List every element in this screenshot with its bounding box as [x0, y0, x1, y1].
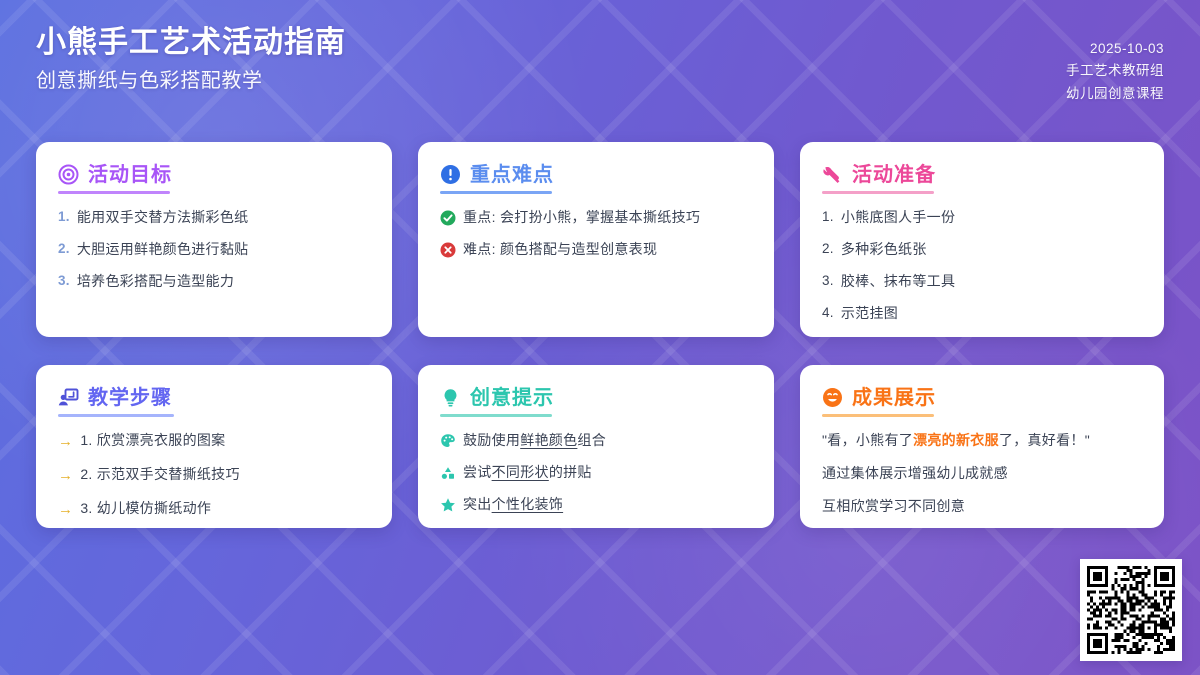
card-header-focus: 重点难点 [440, 164, 752, 185]
list-item: → 2. 示范双手交替撕纸技巧 [58, 465, 370, 486]
item-text-prefix: 尝试 [463, 464, 492, 480]
title-underline-tips [440, 414, 552, 417]
card-title-goal: 活动目标 [88, 165, 172, 185]
x-circle-icon [440, 240, 456, 259]
item-text-suffix: 组合 [577, 432, 606, 448]
card-preparation: 活动准备 1. 小熊底图人手一份 2. 多种彩色纸张 3. 胶棒、抹布等工具 4… [800, 142, 1164, 337]
item-text-prefix: 突出 [463, 496, 492, 512]
item-text: 尝试不同形状的拼贴 [463, 463, 752, 482]
card-teaching-steps: 教学步骤 → 1. 欣赏漂亮衣服的图案 → 2. 示范双手交替撕纸技巧 → 3.… [36, 365, 392, 528]
list-item: → 3. 幼儿模仿撕纸动作 [58, 499, 370, 520]
list-item: 互相欣赏学习不同创意 [822, 497, 1142, 516]
presentation-icon [58, 387, 79, 408]
target-icon [58, 164, 79, 185]
meta-course: 幼儿园创意课程 [1066, 83, 1164, 105]
title-underline-prep [822, 191, 934, 194]
card-results-showcase: 成果展示 "看，小熊有了漂亮的新衣服了，真好看！" 通过集体展示增强幼儿成就感 … [800, 365, 1164, 528]
card-title-focus: 重点难点 [470, 165, 554, 185]
list-item: 1. 小熊底图人手一份 [822, 208, 1142, 227]
item-text: 通过集体展示增强幼儿成就感 [822, 464, 1142, 483]
card-title-result: 成果展示 [852, 388, 936, 408]
list-item: "看，小熊有了漂亮的新衣服了，真好看！" [822, 431, 1142, 450]
tips-list: 鼓励使用鲜艳颜色组合 尝试不同形状的拼贴 [440, 431, 752, 514]
title-underline-focus [440, 191, 552, 194]
item-text: 胶棒、抹布等工具 [841, 272, 1142, 291]
card-header-result: 成果展示 [822, 387, 1142, 408]
list-item: 2. 大胆运用鲜艳颜色进行黏贴 [58, 240, 370, 259]
card-header-steps: 教学步骤 [58, 387, 370, 408]
item-text: 培养色彩搭配与造型能力 [77, 272, 370, 291]
item-text-suffix: 的拼贴 [549, 464, 592, 480]
item-number: 4. [822, 304, 834, 323]
item-text: 重点: 会打扮小熊，掌握基本撕纸技巧 [463, 208, 752, 227]
list-item: 4. 示范挂图 [822, 304, 1142, 323]
smiley-icon [822, 387, 843, 408]
card-activity-goal: 活动目标 1. 能用双手交替方法撕彩色纸 2. 大胆运用鲜艳颜色进行黏贴 3. … [36, 142, 392, 337]
arrow-right-icon: → [58, 431, 73, 452]
item-text: 鼓励使用鲜艳颜色组合 [463, 431, 752, 450]
item-text-underlined: 鲜艳颜色 [520, 432, 577, 448]
item-text-underlined: 个性化装饰 [492, 496, 564, 512]
card-title-prep: 活动准备 [852, 165, 936, 185]
check-circle-icon [440, 208, 456, 227]
item-number: 3. [58, 272, 70, 291]
star-icon [440, 495, 456, 514]
title-underline-result [822, 414, 934, 417]
meta-team: 手工艺术教研组 [1066, 60, 1164, 82]
item-number: 1. [58, 208, 70, 227]
item-text: 多种彩色纸张 [841, 240, 1142, 259]
quote-highlight: 漂亮的新衣服 [913, 432, 999, 448]
qr-code-canvas [1087, 566, 1175, 654]
list-item: 鼓励使用鲜艳颜色组合 [440, 431, 752, 450]
title-underline-steps [58, 414, 174, 417]
item-number: 1. [822, 208, 834, 227]
prep-list: 1. 小熊底图人手一份 2. 多种彩色纸张 3. 胶棒、抹布等工具 4. 示范挂… [822, 208, 1142, 323]
header-meta: 2025-10-03 手工艺术教研组 幼儿园创意课程 [1066, 24, 1164, 105]
list-item: 尝试不同形状的拼贴 [440, 463, 752, 482]
list-item: 3. 胶棒、抹布等工具 [822, 272, 1142, 291]
arrow-right-icon: → [58, 499, 73, 520]
arrow-right-icon: → [58, 465, 73, 486]
list-item: 1. 能用双手交替方法撕彩色纸 [58, 208, 370, 227]
item-number: 3. [822, 272, 834, 291]
card-key-points: 重点难点 重点: 会打扮小熊，掌握基本撕纸技巧 [418, 142, 774, 337]
card-grid: 活动目标 1. 能用双手交替方法撕彩色纸 2. 大胆运用鲜艳颜色进行黏贴 3. … [36, 142, 1164, 528]
goal-list: 1. 能用双手交替方法撕彩色纸 2. 大胆运用鲜艳颜色进行黏贴 3. 培养色彩搭… [58, 208, 370, 291]
page-title: 小熊手工艺术活动指南 [36, 24, 346, 62]
exclamation-circle-icon [440, 164, 461, 185]
card-header-prep: 活动准备 [822, 164, 1142, 185]
poster-header: 小熊手工艺术活动指南 创意撕纸与色彩搭配教学 2025-10-03 手工艺术教研… [0, 0, 1200, 130]
list-item: 重点: 会打扮小熊，掌握基本撕纸技巧 [440, 208, 752, 227]
card-creative-tips: 创意提示 鼓励使用鲜艳颜色组合 [418, 365, 774, 528]
item-number: 2. [822, 240, 834, 259]
list-item: → 1. 欣赏漂亮衣服的图案 [58, 431, 370, 452]
title-underline-goal [58, 191, 170, 194]
item-text-underlined: 不同形状 [492, 464, 549, 480]
card-header-tips: 创意提示 [440, 387, 752, 408]
item-text: 3. 幼儿模仿撕纸动作 [80, 499, 370, 518]
focus-list: 重点: 会打扮小熊，掌握基本撕纸技巧 难点: 颜色搭配与造型创意表现 [440, 208, 752, 259]
quote-suffix: 了，真好看！" [999, 432, 1090, 448]
quote-prefix: "看，小熊有了 [822, 432, 913, 448]
lightbulb-icon [440, 387, 461, 408]
list-item: 突出个性化装饰 [440, 495, 752, 514]
steps-list: → 1. 欣赏漂亮衣服的图案 → 2. 示范双手交替撕纸技巧 → 3. 幼儿模仿… [58, 431, 370, 520]
card-title-steps: 教学步骤 [88, 388, 172, 408]
poster-root: 小熊手工艺术活动指南 创意撕纸与色彩搭配教学 2025-10-03 手工艺术教研… [0, 0, 1200, 675]
item-text: 大胆运用鲜艳颜色进行黏贴 [77, 240, 370, 259]
item-text: 突出个性化装饰 [463, 495, 752, 514]
item-text: 1. 欣赏漂亮衣服的图案 [80, 431, 370, 450]
shapes-icon [440, 463, 456, 482]
list-item: 通过集体展示增强幼儿成就感 [822, 464, 1142, 483]
qr-code[interactable] [1080, 559, 1182, 661]
palette-icon [440, 431, 456, 450]
list-item: 难点: 颜色搭配与造型创意表现 [440, 240, 752, 259]
meta-date: 2025-10-03 [1090, 38, 1164, 60]
item-text: 示范挂图 [841, 304, 1142, 323]
header-left: 小熊手工艺术活动指南 创意撕纸与色彩搭配教学 [36, 24, 346, 94]
item-number: 2. [58, 240, 70, 259]
item-text: 难点: 颜色搭配与造型创意表现 [463, 240, 752, 259]
item-text: 能用双手交替方法撕彩色纸 [77, 208, 370, 227]
card-header-goal: 活动目标 [58, 164, 370, 185]
page-subtitle: 创意撕纸与色彩搭配教学 [36, 68, 346, 94]
item-text: 互相欣赏学习不同创意 [822, 497, 1142, 516]
card-title-tips: 创意提示 [470, 388, 554, 408]
list-item: 2. 多种彩色纸张 [822, 240, 1142, 259]
list-item: 3. 培养色彩搭配与造型能力 [58, 272, 370, 291]
item-text: 2. 示范双手交替撕纸技巧 [80, 465, 370, 484]
item-text: "看，小熊有了漂亮的新衣服了，真好看！" [822, 431, 1142, 450]
result-list: "看，小熊有了漂亮的新衣服了，真好看！" 通过集体展示增强幼儿成就感 互相欣赏学… [822, 431, 1142, 530]
item-text-prefix: 鼓励使用 [463, 432, 520, 448]
item-text: 小熊底图人手一份 [841, 208, 1142, 227]
tools-icon [822, 164, 843, 185]
